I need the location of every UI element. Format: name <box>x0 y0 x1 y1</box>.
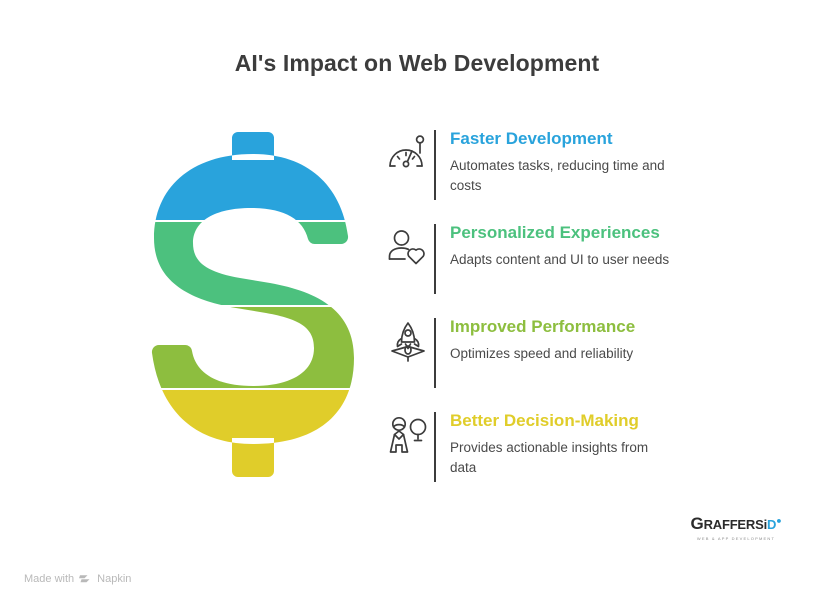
napkin-logo-icon <box>79 574 92 585</box>
feature-heading: Personalized Experiences <box>450 222 722 243</box>
feature-item-improved-performance: Improved Performance Optimizes speed and… <box>382 314 722 392</box>
feature-divider <box>434 224 436 294</box>
feature-list: Faster Development Automates tasks, redu… <box>382 126 722 502</box>
person-heart-icon <box>382 220 434 270</box>
dollar-band-green <box>148 222 358 305</box>
feature-divider <box>434 318 436 388</box>
feature-description: Adapts content and UI to user needs <box>450 250 678 270</box>
logo-letter-g: G <box>691 514 704 533</box>
logo-letters-raffers: RAFFERS <box>704 517 764 532</box>
feature-heading: Better Decision-Making <box>450 410 722 431</box>
dollar-sign-graphic <box>148 132 358 477</box>
feature-item-better-decision-making: Better Decision-Making Provides actionab… <box>382 408 722 486</box>
feature-divider <box>434 130 436 200</box>
person-lightbulb-icon <box>382 408 434 458</box>
dollar-band-yellow <box>148 390 358 477</box>
dollar-band-blue <box>148 132 358 220</box>
graffersid-logo: GRAFFERSiD● WEB & APP DEVELOPMENT <box>690 514 782 541</box>
speedometer-icon <box>382 126 434 176</box>
feature-heading: Faster Development <box>450 128 722 149</box>
logo-dot: ● <box>776 516 781 526</box>
feature-heading: Improved Performance <box>450 316 722 337</box>
logo-letter-d: D <box>767 517 776 532</box>
feature-divider <box>434 412 436 482</box>
watermark-made-with-label: Made with <box>24 573 74 585</box>
logo-wordmark: GRAFFERSiD● <box>690 514 782 534</box>
watermark-napkin-label: Napkin <box>97 573 131 585</box>
napkin-watermark: Made with Napkin <box>24 573 131 585</box>
page-title: AI's Impact on Web Development <box>0 50 834 77</box>
dollar-band-olive <box>148 307 358 388</box>
feature-description: Automates tasks, reducing time and costs <box>450 156 678 195</box>
logo-tagline: WEB & APP DEVELOPMENT <box>690 536 782 541</box>
feature-item-faster-development: Faster Development Automates tasks, redu… <box>382 126 722 204</box>
feature-description: Optimizes speed and reliability <box>450 344 678 364</box>
feature-description: Provides actionable insights from data <box>450 438 678 477</box>
feature-item-personalized-experiences: Personalized Experiences Adapts content … <box>382 220 722 298</box>
rocket-icon <box>382 314 434 364</box>
